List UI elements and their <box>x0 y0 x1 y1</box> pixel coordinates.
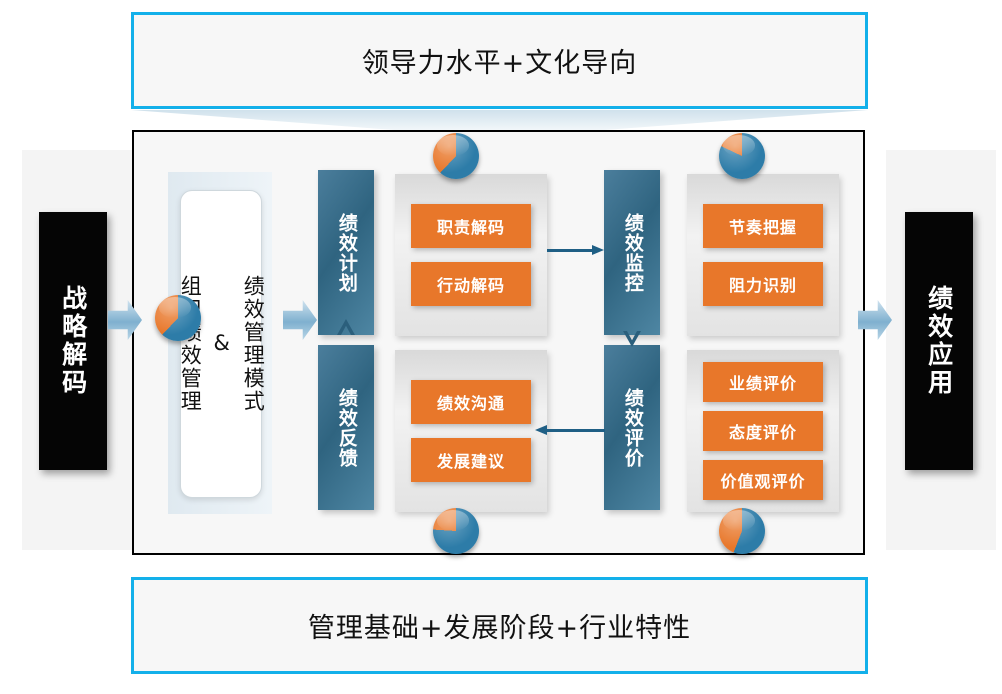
stage-label-monitor: 绩效监控 <box>619 213 645 293</box>
sub-panel-feedback: 绩效沟通 发展建议 <box>395 350 547 512</box>
performance-application-label: 绩效应用 <box>923 285 954 397</box>
sub-panel-plan: 职责解码 行动解码 <box>395 174 547 336</box>
stage-label-evaluate: 绩效评价 <box>619 388 645 468</box>
tag-plan-1[interactable]: 行动解码 <box>411 262 531 306</box>
tag-evaluate-0[interactable]: 业绩评价 <box>703 362 823 402</box>
pie-chart-plan-icon <box>433 133 479 179</box>
top-banner: 领导力水平+文化导向 <box>131 12 868 109</box>
performance-application-box[interactable]: 绩效应用 <box>905 212 973 470</box>
arrow-left-shaft <box>545 429 605 432</box>
pie-chart-feedback-icon <box>433 508 479 554</box>
stage-box-plan[interactable]: 绩效计划 <box>318 170 374 335</box>
arrow-right-icon <box>547 245 604 255</box>
pie-chart-core-icon <box>155 295 201 341</box>
arrow-right-shaft <box>547 249 595 252</box>
pie-chart-evaluate-icon <box>719 508 765 554</box>
bottom-banner-label: 管理基础+发展阶段+行业特性 <box>308 606 691 645</box>
tag-monitor-1[interactable]: 阻力识别 <box>703 262 823 306</box>
arrow-right-head <box>592 245 604 255</box>
diagram-canvas: 领导力水平+文化导向 管理基础+发展阶段+行业特性 战略解码 绩效应用 绩效管理… <box>0 0 1002 694</box>
bottom-banner: 管理基础+发展阶段+行业特性 <box>131 577 868 674</box>
sub-panel-monitor: 节奏把握 阻力识别 <box>687 174 839 336</box>
tag-feedback-0[interactable]: 绩效沟通 <box>411 380 531 424</box>
pie-chart-monitor-icon <box>719 133 765 179</box>
top-banner-label: 领导力水平+文化导向 <box>362 41 638 80</box>
strategy-decoding-label: 战略解码 <box>57 285 88 397</box>
tag-feedback-1[interactable]: 发展建议 <box>411 438 531 482</box>
arrow-left-icon <box>535 425 605 435</box>
sub-panel-evaluate: 业绩评价 态度评价 价值观评价 <box>687 350 839 512</box>
tag-monitor-0[interactable]: 节奏把握 <box>703 204 823 248</box>
strategy-decoding-box[interactable]: 战略解码 <box>39 212 107 470</box>
core-model-label: 绩效管理模式 & 组织绩效管理 <box>174 204 269 484</box>
tag-evaluate-2[interactable]: 价值观评价 <box>703 460 823 500</box>
stage-label-feedback: 绩效反馈 <box>333 388 359 468</box>
arrow-left-head <box>535 425 547 435</box>
stage-box-monitor[interactable]: 绩效监控 <box>604 170 660 335</box>
stage-box-evaluate[interactable]: 绩效评价 <box>604 345 660 510</box>
core-model-card[interactable]: 绩效管理模式 & 组织绩效管理 <box>180 190 262 498</box>
tag-evaluate-1[interactable]: 态度评价 <box>703 411 823 451</box>
tag-plan-0[interactable]: 职责解码 <box>411 204 531 248</box>
stage-label-plan: 绩效计划 <box>333 213 359 293</box>
stage-box-feedback[interactable]: 绩效反馈 <box>318 345 374 510</box>
